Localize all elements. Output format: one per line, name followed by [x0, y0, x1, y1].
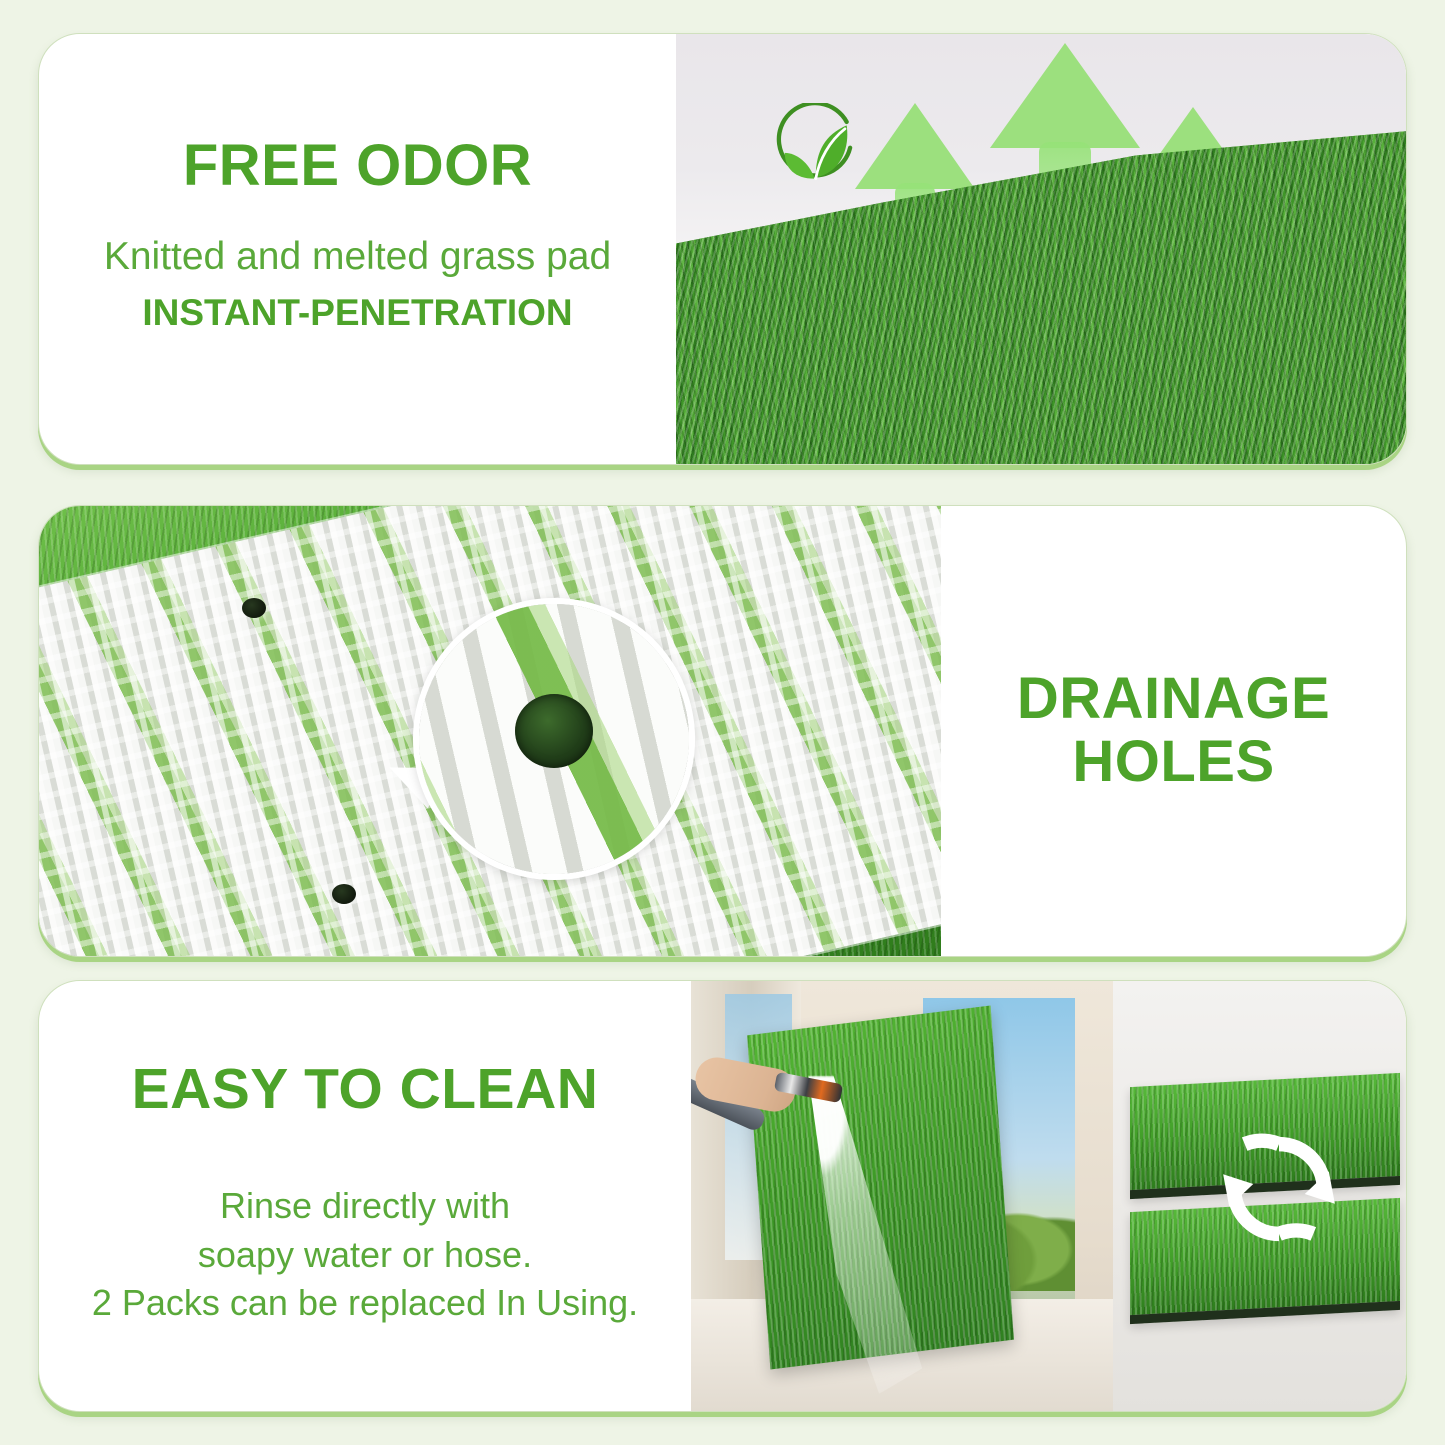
easy-clean-text-block: EASY TO CLEAN Rinse directly with soapy …: [39, 981, 691, 1411]
free-odor-subline-1: Knitted and melted grass pad: [104, 231, 611, 283]
replace-arrows-icon: [1213, 1123, 1345, 1255]
drainage-hole: [332, 884, 356, 904]
grass-airflow-photo: [676, 34, 1406, 464]
magnifier-callout: [413, 598, 695, 880]
free-odor-subline-2: INSTANT-PENETRATION: [142, 288, 572, 338]
panel-easy-to-clean: EASY TO CLEAN Rinse directly with soapy …: [38, 980, 1407, 1412]
panel-drainage-holes: DRAINAGE HOLES: [38, 505, 1407, 957]
rinsing-photo: [691, 981, 1113, 1411]
infographic-board: FREE ODOR Knitted and melted grass pad I…: [0, 0, 1445, 1445]
easy-clean-headline: EASY TO CLEAN: [132, 1059, 599, 1121]
stacked-pads-photo: [1113, 981, 1406, 1411]
free-odor-headline: FREE ODOR: [183, 135, 532, 198]
easy-clean-images: [691, 981, 1406, 1411]
free-odor-text-block: FREE ODOR Knitted and melted grass pad I…: [39, 34, 676, 464]
drainage-headline-line-1: DRAINAGE: [1017, 666, 1330, 731]
easy-clean-subline-1: Rinse directly with: [92, 1182, 638, 1230]
panel-free-odor: FREE ODOR Knitted and melted grass pad I…: [38, 33, 1407, 465]
easy-clean-subline-3: 2 Packs can be replaced In Using.: [92, 1279, 638, 1327]
easy-clean-subline-2: soapy water or hose.: [92, 1231, 638, 1279]
drainage-headline: DRAINAGE HOLES: [1017, 668, 1330, 793]
easy-clean-sublines: Rinse directly with soapy water or hose.…: [92, 1182, 638, 1327]
mesh-backing-photo: [39, 506, 941, 956]
drainage-headline-line-2: HOLES: [1072, 729, 1274, 794]
drainage-text-block: DRAINAGE HOLES: [941, 506, 1406, 956]
eco-leaf-icon: [771, 103, 857, 189]
magnified-drainage-hole: [515, 694, 593, 768]
